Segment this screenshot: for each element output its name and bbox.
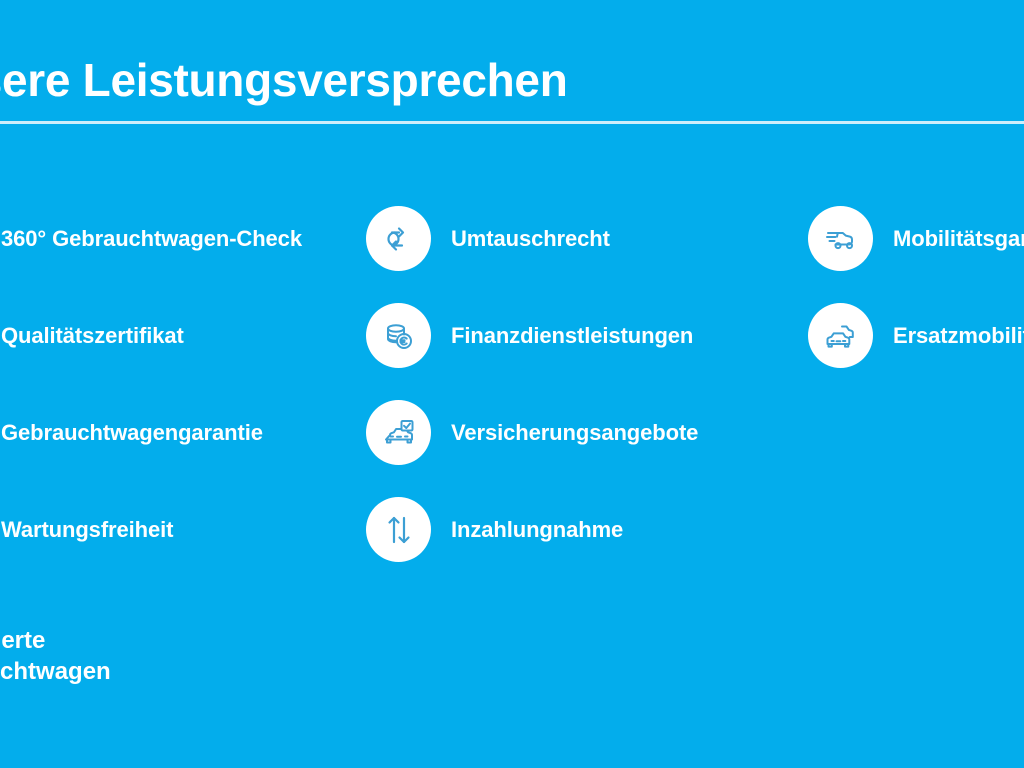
list-item[interactable]: Inzahlungnahme xyxy=(366,481,766,578)
list-item-label: 360° Gebrauchtwagen-Check xyxy=(1,226,302,252)
car-speedlines-icon xyxy=(808,206,873,271)
certified-used-cars-claim: Zertifizierte Gebrauchtwagen xyxy=(0,625,111,687)
list-item-label: Versicherungsangebote xyxy=(451,420,698,446)
column-guarantees: 360° Gebrauchtwagen-Check Qualitätszerti… xyxy=(0,190,346,578)
euro-coins-icon xyxy=(366,303,431,368)
list-item-label: Ersatzmobilität xyxy=(893,323,1024,349)
banner-canvas: Unsere Leistungsversprechen 360° Gebrauc… xyxy=(0,0,1024,768)
list-item[interactable]: Gebrauchtwagengarantie xyxy=(0,384,346,481)
list-item-label: Mobilitätsgarantie xyxy=(893,226,1024,252)
list-item[interactable]: Versicherungsangebote xyxy=(366,384,766,481)
list-item[interactable]: Umtauschrecht xyxy=(366,190,766,287)
list-item[interactable]: Finanzdienstleistungen xyxy=(366,287,766,384)
exchange-arrows-icon xyxy=(366,206,431,271)
list-item-label: Qualitätszertifikat xyxy=(1,323,184,349)
list-item-label: Wartungsfreiheit xyxy=(1,517,173,543)
car-checkmark-icon xyxy=(366,400,431,465)
list-item[interactable]: Qualitätszertifikat xyxy=(0,287,346,384)
list-item[interactable]: Ersatzmobilität xyxy=(808,287,1024,384)
list-item-label: Finanzdienstleistungen xyxy=(451,323,693,349)
title-divider xyxy=(0,121,1024,124)
list-item[interactable]: Mobilitätsgarantie xyxy=(808,190,1024,287)
column-mobility: Mobilitätsgarantie Ersatzmobilität xyxy=(808,190,1024,384)
page-title: Unsere Leistungsversprechen xyxy=(0,52,1024,108)
list-item-label: Inzahlungnahme xyxy=(451,517,623,543)
list-item[interactable]: Wartungsfreiheit xyxy=(0,481,346,578)
two-cars-icon xyxy=(808,303,873,368)
list-item-label: Gebrauchtwagengarantie xyxy=(1,420,263,446)
list-item[interactable]: 360° Gebrauchtwagen-Check xyxy=(0,190,346,287)
up-down-arrows-icon xyxy=(366,497,431,562)
column-services: Umtauschrecht Finanzdienstleistun xyxy=(366,190,766,578)
banner-stage: Unsere Leistungsversprechen 360° Gebrauc… xyxy=(0,0,1024,768)
list-item-label: Umtauschrecht xyxy=(451,226,610,252)
